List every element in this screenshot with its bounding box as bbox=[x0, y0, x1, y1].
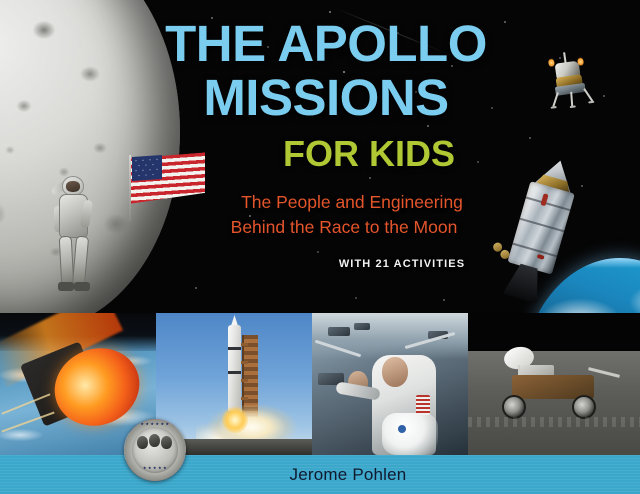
lunar-module-leg-1 bbox=[552, 92, 559, 107]
rover-rear-wheel bbox=[572, 395, 596, 419]
astronauts-cabin-photo bbox=[312, 313, 468, 455]
patch-astronaut-face-2 bbox=[149, 434, 160, 447]
lunar-regolith-ground bbox=[468, 351, 640, 455]
cabin-instrument-box-1 bbox=[328, 327, 350, 336]
saturn-v-stage-band-2 bbox=[228, 371, 241, 374]
apollo-mission-patch: ★ ★ ★ ★ ★ ★ ★ ★ ★ ★ ★ bbox=[124, 419, 186, 481]
lunar-module bbox=[539, 49, 598, 112]
lunar-module-leg-2 bbox=[583, 88, 593, 102]
rover-front-wheel bbox=[502, 395, 526, 419]
book-cover: THE APOLLO MISSIONS FOR KIDS The People … bbox=[0, 0, 640, 494]
subtitle-line-1: The People and Engineering bbox=[182, 190, 522, 215]
launch-engine-flame bbox=[222, 407, 248, 433]
patch-astronaut-face-3 bbox=[161, 436, 172, 449]
lunar-rover-photo bbox=[468, 313, 640, 455]
author-name: Jerome Pohlen bbox=[290, 465, 407, 485]
saluting-astronaut bbox=[47, 172, 101, 296]
saturn-v-rocket-body bbox=[228, 325, 241, 411]
title-line-3-for-kids: FOR KIDS bbox=[216, 134, 522, 174]
author-band: Jerome Pohlen bbox=[0, 455, 640, 494]
cabin-instrument-box-2 bbox=[354, 323, 370, 330]
title-line-2: MISSIONS bbox=[130, 72, 522, 124]
saturn-v-stage-band-1 bbox=[228, 347, 241, 350]
activities-note: WITH 21 ACTIVITIES bbox=[282, 258, 522, 270]
title-line-1: THE APOLLO bbox=[130, 18, 522, 70]
suit-blue-badge bbox=[398, 425, 406, 433]
photo-strip bbox=[0, 313, 640, 455]
astronaut-face-foreground bbox=[382, 357, 408, 387]
patch-astronaut-face-1 bbox=[137, 436, 148, 449]
patch-bottom-text: ★ ★ ★ ★ ★ bbox=[128, 466, 182, 477]
subtitle-line-2: Behind the Race to the Moon bbox=[166, 215, 522, 240]
suit-flag-patch bbox=[416, 395, 430, 415]
lunar-module-thruster-flare-left bbox=[548, 58, 555, 68]
lunar-black-sky bbox=[468, 313, 640, 353]
rover-wheel-tracks bbox=[468, 417, 640, 427]
astronaut-right-leg bbox=[72, 236, 89, 287]
title-block: THE APOLLO MISSIONS FOR KIDS The People … bbox=[130, 18, 522, 270]
lunar-module-foot-1 bbox=[551, 106, 557, 109]
patch-top-text: ★ ★ ★ ★ ★ ★ bbox=[128, 422, 182, 433]
astronaut-left-boot bbox=[58, 282, 74, 291]
cabin-bright-highlight bbox=[382, 413, 438, 455]
lunar-module-foot-2 bbox=[588, 101, 594, 104]
astronaut-right-boot bbox=[74, 282, 90, 291]
astronaut-visor bbox=[66, 181, 80, 192]
